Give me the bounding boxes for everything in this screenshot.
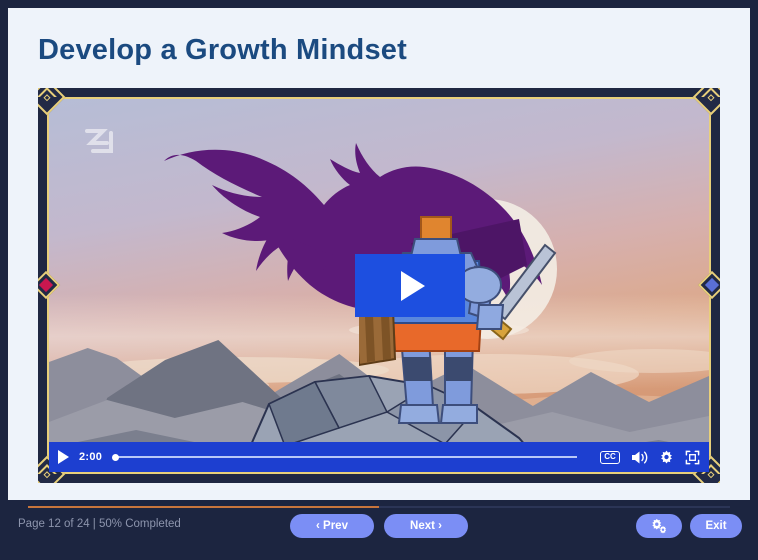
video-play-overlay-button[interactable] [355,254,465,317]
course-progress-track[interactable] [28,506,730,508]
play-button[interactable] [58,450,69,464]
knight-character [359,209,579,439]
seek-bar[interactable] [112,450,577,464]
volume-icon [631,450,648,465]
fullscreen-icon [685,450,700,465]
settings-button[interactable] [636,514,682,538]
video-time-label: 2:00 [79,451,102,463]
gear-icon [659,450,674,465]
captions-button[interactable]: CC [600,451,620,464]
page-status-label: Page 12 of 24 | 50% Completed [18,518,181,530]
seek-track [118,456,577,458]
navigation-buttons: ‹ Prev Next › [290,514,468,538]
page-title: Develop a Growth Mindset [38,34,407,67]
footer-actions: Exit [636,514,742,538]
course-progress-fill [28,506,379,508]
course-player: Develop a Growth Mindset [0,0,758,560]
seek-handle[interactable] [112,454,119,461]
play-triangle-icon [401,271,425,301]
gears-icon [650,518,668,534]
decorative-gold-frame: 2:00 CC [47,97,711,474]
prev-button[interactable]: ‹ Prev [290,514,374,538]
brand-watermark-logo [81,121,121,161]
cc-icon: CC [600,451,620,464]
video-player[interactable]: 2:00 CC [38,88,720,483]
fullscreen-button[interactable] [685,450,700,465]
exit-button[interactable]: Exit [690,514,742,538]
next-button[interactable]: Next › [384,514,468,538]
player-footer: Page 12 of 24 | 50% Completed ‹ Prev Nex… [0,500,758,560]
video-settings-button[interactable] [659,450,674,465]
volume-button[interactable] [631,450,648,465]
slide-panel: Develop a Growth Mindset [8,8,750,500]
video-control-bar: 2:00 CC [49,442,709,472]
